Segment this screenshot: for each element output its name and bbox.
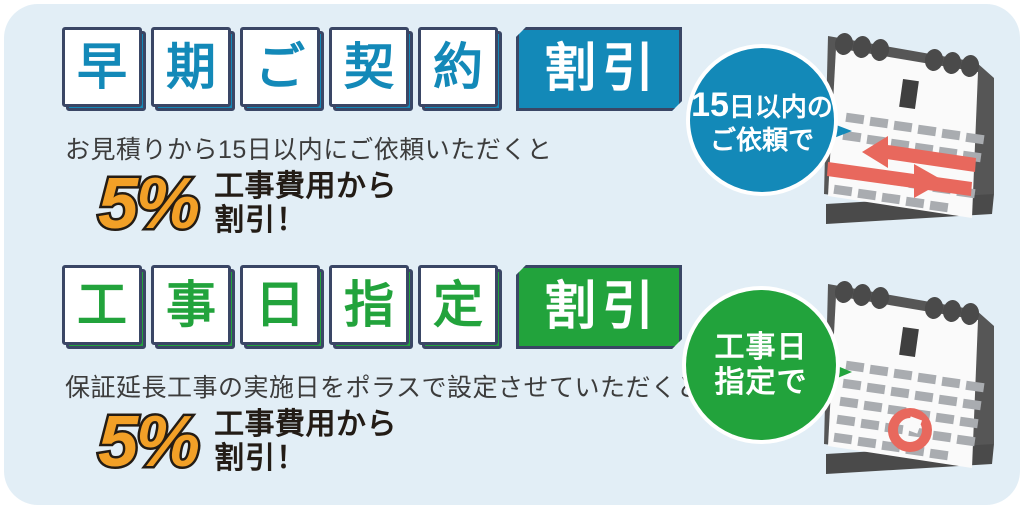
headline-tile: 日 (240, 265, 320, 345)
tile-face: 指 (329, 265, 409, 345)
tile-face: 事 (151, 265, 231, 345)
plate-label: 割引 (516, 265, 682, 349)
discount-caption-line1: 工事費用から (214, 170, 397, 205)
tile-face: 早 (62, 27, 142, 107)
discount-caption-line1: 工事費用から (214, 408, 397, 443)
percent-wrap: 5% (98, 406, 202, 478)
percent-wrap: 5% (98, 168, 202, 240)
badge-line2: ご依頼で (710, 125, 814, 156)
headline-tile: 期 (151, 27, 231, 107)
headline-tile: ご (240, 27, 320, 107)
plate-label: 割引 (516, 27, 682, 111)
headline-tile: 指 (329, 265, 409, 345)
discount-percent: 5% (98, 164, 202, 244)
tile-face: 定 (418, 265, 498, 345)
offer-subtitle-construction-date: 保証延長工事の実施日をポラスで設定させていただくと (65, 368, 702, 404)
badge-construction-date: 工事日 指定で (686, 290, 836, 440)
headline-plate-discount: 割引 (516, 27, 682, 111)
headline-plate-discount: 割引 (516, 265, 682, 349)
headline-tile: 約 (418, 27, 498, 107)
discount-caption: 工事費用から 割引！ (214, 170, 397, 239)
headline-tile: 定 (418, 265, 498, 345)
headline-tile: 早 (62, 27, 142, 107)
tile-face: 契 (329, 27, 409, 107)
offer-subtitle-early-contract: お見積りから15日以内にご依頼いただくと (65, 130, 552, 166)
badge-line1-rest: 日以内の (729, 92, 833, 122)
discount-block-early-contract: 5% 工事費用から 割引！ (98, 168, 397, 240)
badge-early-contract: 15日以内の ご依頼で (690, 48, 834, 192)
headline-construction-date: 工 事 日 指 定 割引 (62, 265, 682, 349)
headline-tile: 工 (62, 265, 142, 345)
badge-line1: 工事日 (715, 330, 808, 365)
tile-face: 工 (62, 265, 142, 345)
tile-face: 日 (240, 265, 320, 345)
discount-caption: 工事費用から 割引！ (214, 408, 397, 477)
headline-tile: 事 (151, 265, 231, 345)
tile-face: 期 (151, 27, 231, 107)
tile-face: ご (240, 27, 320, 107)
discount-block-construction-date: 5% 工事費用から 割引！ (98, 406, 397, 478)
tile-face: 約 (418, 27, 498, 107)
discount-caption-line2: 割引！ (214, 442, 397, 477)
headline-tile: 契 (329, 27, 409, 107)
banner-root: 早 期 ご 契 約 割引 お見積りから15日以内にご依頼いただくと 5% 工事費… (0, 0, 1024, 509)
badge-days-number: 15 (691, 86, 729, 124)
discount-caption-line2: 割引！ (214, 204, 397, 239)
badge-line2: 指定で (715, 365, 808, 400)
discount-percent: 5% (98, 402, 202, 482)
headline-early-contract: 早 期 ご 契 約 割引 (62, 27, 682, 111)
badge-line1: 15日以内の (691, 85, 833, 125)
